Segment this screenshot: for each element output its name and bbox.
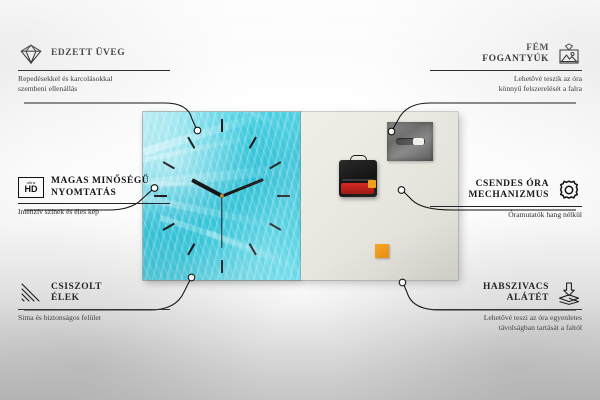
metal-hanger [387,122,433,161]
infographic-canvas: EDZETT ÜVEG Repedésekkel és karcolásokka… [0,0,600,400]
feature-header: CSENDES ÓRAMECHANIZMUS [392,178,582,202]
feature-foam-pad[interactable]: HABSZIVACSALÁTÉT Lehetővé teszi az óra e… [392,281,582,332]
mechanism-hook [350,155,367,164]
feature-desc: Repedésekkel és karcolásokkal szembeni e… [18,74,208,93]
feature-desc: Sima és biztonságos felület [18,313,208,323]
feature-title: MAGAS MINŐSÉGŰNYOMTATÁS [51,176,149,199]
feature-desc: Lehetővé teszi az óra egyenletes távolsá… [392,313,582,332]
feature-title: FÉMFOGANTYÚK [482,43,549,66]
feature-tempered-glass[interactable]: EDZETT ÜVEG Repedésekkel és karcolásokka… [18,42,208,93]
feature-desc: Lehetővé teszik az óra könnyű felszerelé… [392,74,582,93]
feature-header: CSISZOLTÉLEK [18,281,208,305]
feature-high-quality-print[interactable]: ultra HD MAGAS MINŐSÉGŰNYOMTATÁS Intenzí… [18,176,208,217]
feature-title: HABSZIVACSALÁTÉT [483,282,549,305]
diamond-icon [18,42,44,66]
feature-metal-handles[interactable]: FÉMFOGANTYÚK Lehetővé teszik az óra könn… [392,42,582,93]
feature-title: CSENDES ÓRAMECHANIZMUS [469,179,549,202]
feature-desc: Óramutatók hang nélkül [392,210,582,220]
gear-icon [556,178,582,202]
clock-mechanism [339,160,377,197]
feature-header: EDZETT ÜVEG [18,42,208,66]
feature-desc: Intenzív színek és éles kép [18,207,208,217]
polished-edges-icon [18,281,44,305]
feature-header: HABSZIVACSALÁTÉT [392,281,582,305]
hd-badge-big-label: HD [25,185,38,194]
foam-pad [375,244,389,258]
feature-polished-edges[interactable]: CSISZOLTÉLEK Sima és biztonságos felület [18,281,208,323]
feature-title: EDZETT ÜVEG [51,48,125,60]
divider [430,70,582,71]
battery-compartment [341,183,374,194]
divider [430,309,582,310]
picture-hanger-icon [556,42,582,66]
foam-layers-arrow-icon [556,281,582,305]
clock-minute-hand [221,178,263,197]
feature-silent-mechanism[interactable]: CSENDES ÓRAMECHANIZMUS Óramutatók hang n… [392,178,582,220]
clock-second-hand [221,196,222,248]
clock-center-pivot [220,194,224,198]
divider [18,203,170,204]
hanger-slot [396,138,425,145]
divider [18,70,170,71]
ultra-hd-badge-icon: ultra HD [18,177,44,198]
feature-header: ultra HD MAGAS MINŐSÉGŰNYOMTATÁS [18,176,208,199]
divider [430,206,582,207]
divider [18,309,170,310]
feature-header: FÉMFOGANTYÚK [392,42,582,66]
feature-title: CSISZOLTÉLEK [51,282,102,305]
